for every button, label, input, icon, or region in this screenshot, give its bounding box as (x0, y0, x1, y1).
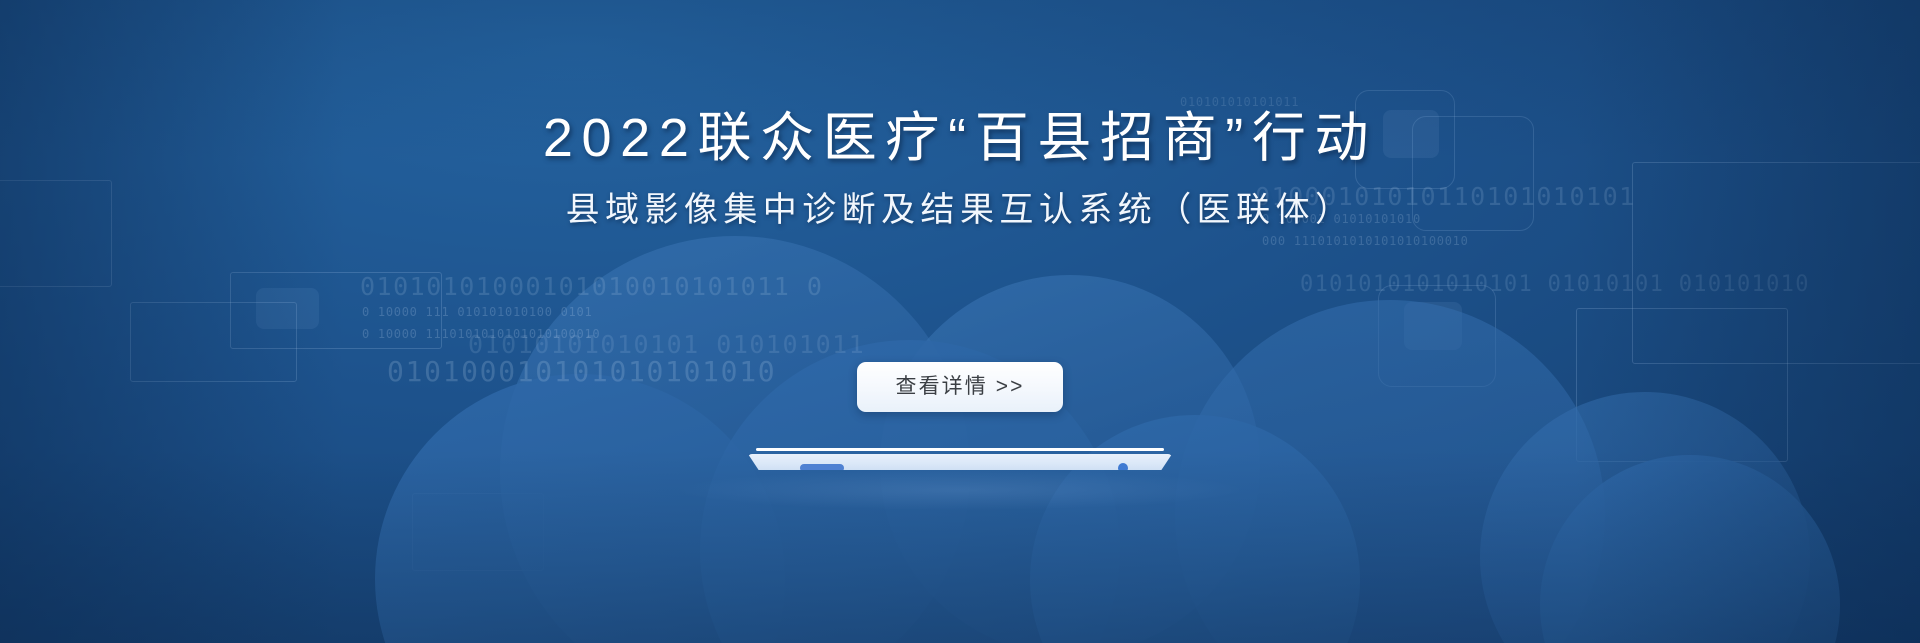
laptop-base-illustration (748, 448, 1172, 478)
binary-text-8: 000 1110101010101010100010 (1262, 234, 1469, 248)
cta-container: 查看详情 >> (0, 362, 1920, 412)
cloud-illustration (0, 0, 1920, 643)
page-subtitle: 县域影像集中诊断及结果互认系统（医联体） (0, 190, 1920, 231)
laptop-screen-edge (756, 448, 1164, 451)
view-details-button[interactable]: 查看详情 >> (857, 362, 1062, 412)
laptop-body (748, 454, 1172, 470)
laptop-indicator-dot (1118, 463, 1128, 473)
binary-text-2: 0 10000 111 010101010100 0101 (362, 305, 592, 319)
binary-text-9: 0101010101010101 01010101 010101010 (1300, 272, 1810, 297)
headline-block: 2022联众医疗“百县招商”行动 县域影像集中诊断及结果互认系统（医联体） (0, 108, 1920, 231)
promo-banner: 01010101000101010010101011 0 0 10000 111… (0, 0, 1920, 643)
laptop-indicator-bar (800, 464, 844, 472)
page-title: 2022联众医疗“百县招商”行动 (0, 108, 1920, 168)
binary-text-10: 010101010101011 (1180, 95, 1299, 109)
binary-text-1: 01010101000101010010101011 0 (360, 272, 823, 301)
